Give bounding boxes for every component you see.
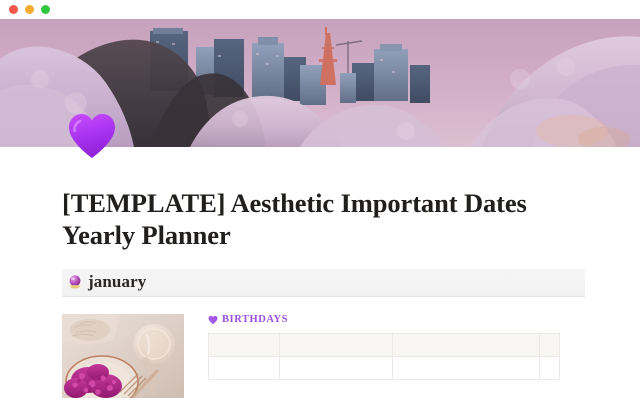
table-header-cell-2[interactable] bbox=[280, 333, 393, 356]
birthdays-heading: BIRTHDAYS bbox=[208, 314, 580, 326]
traffic-lights bbox=[9, 5, 50, 14]
table-header-row bbox=[209, 333, 560, 356]
table-header-cell-1[interactable] bbox=[209, 333, 280, 356]
table-cell[interactable] bbox=[393, 356, 540, 379]
window-titlebar bbox=[0, 0, 640, 19]
app-window: [TEMPLATE] Aesthetic Important Dates Yea… bbox=[0, 0, 640, 400]
section-january-body: BIRTHDAYS bbox=[62, 314, 580, 398]
section-content-column: BIRTHDAYS bbox=[186, 314, 580, 380]
table-header-cell-3[interactable] bbox=[393, 333, 540, 356]
purple-heart-icon bbox=[66, 109, 118, 161]
birthdays-table[interactable] bbox=[208, 333, 560, 380]
january-photo-illustration bbox=[62, 314, 184, 398]
table-header-cell-4[interactable] bbox=[540, 333, 560, 356]
table-row bbox=[209, 356, 560, 379]
birthdays-heading-label: BIRTHDAYS bbox=[222, 314, 288, 325]
minimize-button[interactable] bbox=[25, 5, 34, 14]
maximize-button[interactable] bbox=[41, 5, 50, 14]
page-body: [TEMPLATE] Aesthetic Important Dates Yea… bbox=[0, 147, 640, 400]
section-thumbnail-column bbox=[62, 314, 186, 398]
page-title[interactable]: [TEMPLATE] Aesthetic Important Dates Yea… bbox=[62, 147, 552, 252]
purple-heart-icon bbox=[208, 315, 218, 325]
crystal-ball-icon bbox=[67, 274, 83, 290]
close-button[interactable] bbox=[9, 5, 18, 14]
table-cell[interactable] bbox=[280, 356, 393, 379]
table-cell[interactable] bbox=[209, 356, 280, 379]
section-heading-january[interactable]: january bbox=[62, 269, 585, 297]
january-photo[interactable] bbox=[62, 314, 184, 398]
page-content: [TEMPLATE] Aesthetic Important Dates Yea… bbox=[0, 147, 640, 398]
table-cell[interactable] bbox=[540, 356, 560, 379]
section-heading-label: january bbox=[88, 272, 146, 292]
page-icon-purple-heart[interactable] bbox=[66, 109, 118, 161]
